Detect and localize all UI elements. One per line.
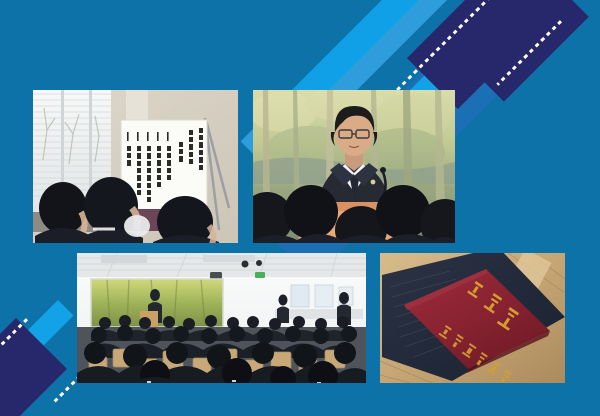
photo-audience-hall (77, 253, 366, 383)
audience-hall-illustration (77, 253, 366, 383)
top-right-white-dashed-line (389, 0, 497, 98)
diploma-folder-illustration (380, 253, 565, 383)
bottom-left-white-dashed-line (0, 318, 28, 412)
ceremony-program-illustration (33, 90, 238, 243)
photo-speaker-podium (253, 90, 455, 243)
speaker-podium-illustration (253, 90, 455, 243)
bottom-left-cyan-band-outer (0, 300, 74, 416)
presentation-slide (0, 0, 600, 416)
top-right-navy-parallelogram-small (467, 0, 589, 102)
photo-diploma-folder (380, 253, 565, 383)
bottom-left-navy-parallelogram (0, 318, 67, 416)
top-right-white-dashed-line-short (496, 20, 562, 86)
photo-ceremony-program (33, 90, 238, 243)
